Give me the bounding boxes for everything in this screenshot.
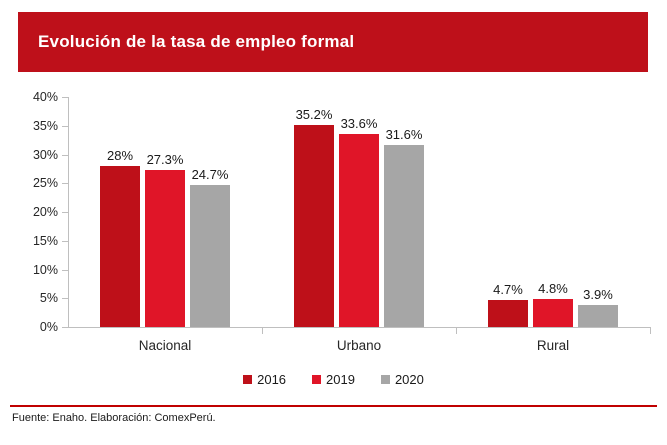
bar-value-label: 4.8% bbox=[538, 281, 568, 296]
bar[interactable] bbox=[339, 134, 379, 327]
y-axis-tick-label: 15% bbox=[10, 234, 58, 248]
legend-label: 2019 bbox=[326, 372, 355, 387]
bar[interactable] bbox=[100, 166, 140, 327]
legend-item-2019[interactable]: 2019 bbox=[312, 372, 355, 387]
bar[interactable] bbox=[533, 299, 573, 327]
y-axis-tick-label: 20% bbox=[10, 205, 58, 219]
chart-legend: 201620192020 bbox=[0, 372, 667, 387]
x-axis-group-separator bbox=[456, 327, 457, 334]
x-axis-category-label: Rural bbox=[537, 338, 569, 353]
legend-item-2020[interactable]: 2020 bbox=[381, 372, 424, 387]
page-title: Evolución de la tasa de empleo formal bbox=[38, 32, 354, 52]
footer-divider bbox=[10, 405, 657, 407]
bar-value-label: 35.2% bbox=[296, 107, 333, 122]
legend-swatch-icon bbox=[381, 375, 390, 384]
y-axis-tick-label: 40% bbox=[10, 90, 58, 104]
bar[interactable] bbox=[190, 185, 230, 327]
bar[interactable] bbox=[384, 145, 424, 327]
bar-value-label: 28% bbox=[107, 148, 133, 163]
y-axis-tick-label: 0% bbox=[10, 320, 58, 334]
y-axis-tick bbox=[62, 327, 68, 328]
legend-item-2016[interactable]: 2016 bbox=[243, 372, 286, 387]
bar[interactable] bbox=[294, 125, 334, 327]
source-note: Fuente: Enaho. Elaboración: ComexPerú. bbox=[12, 412, 216, 424]
x-axis-line bbox=[68, 327, 650, 328]
x-axis-category-label: Urbano bbox=[337, 338, 381, 353]
bar-value-label: 27.3% bbox=[147, 152, 184, 167]
bar-chart: 0%5%10%15%20%25%30%35%40% 28%27.3%24.7%3… bbox=[0, 82, 667, 392]
bar-value-label: 33.6% bbox=[341, 116, 378, 131]
y-axis-tick-label: 25% bbox=[10, 176, 58, 190]
legend-swatch-icon bbox=[243, 375, 252, 384]
bar[interactable] bbox=[145, 170, 185, 327]
chart-title-banner: Evolución de la tasa de empleo formal bbox=[18, 12, 648, 72]
legend-label: 2016 bbox=[257, 372, 286, 387]
plot-area: 28%27.3%24.7%35.2%33.6%31.6%4.7%4.8%3.9% bbox=[68, 97, 650, 327]
x-axis-group-separator bbox=[650, 327, 651, 334]
legend-label: 2020 bbox=[395, 372, 424, 387]
bar-value-label: 24.7% bbox=[192, 167, 229, 182]
bar-value-label: 31.6% bbox=[386, 127, 423, 142]
legend-swatch-icon bbox=[312, 375, 321, 384]
y-axis-tick-label: 10% bbox=[10, 263, 58, 277]
x-axis-group-separator bbox=[262, 327, 263, 334]
y-axis-tick-label: 30% bbox=[10, 148, 58, 162]
x-axis-category-label: Nacional bbox=[139, 338, 192, 353]
bar[interactable] bbox=[578, 305, 618, 327]
bar-value-label: 3.9% bbox=[583, 287, 613, 302]
y-axis-tick-label: 5% bbox=[10, 291, 58, 305]
y-axis-tick-label: 35% bbox=[10, 119, 58, 133]
bar-value-label: 4.7% bbox=[493, 282, 523, 297]
bar[interactable] bbox=[488, 300, 528, 327]
